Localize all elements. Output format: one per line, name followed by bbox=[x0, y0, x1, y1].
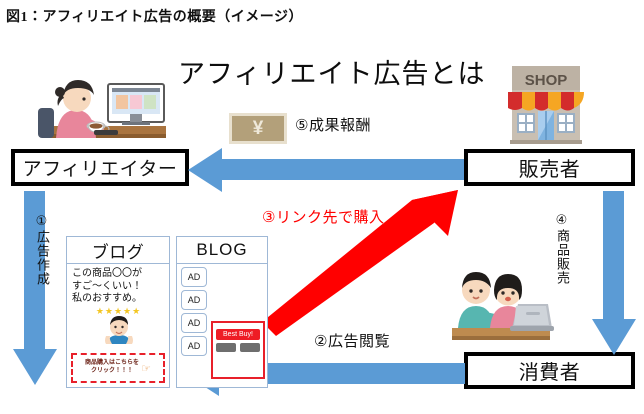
person-at-computer-icon bbox=[30, 68, 170, 146]
entity-label-consumer: 消費者 bbox=[519, 356, 581, 385]
blog-mockup[interactable]: ブログ この商品〇〇が すご〜くいい！ 私のおすすめ。 ★★★★★ 商品購入はこ bbox=[66, 236, 170, 388]
blog-mockup-text: この商品〇〇が すご〜くいい！ 私のおすすめ。 bbox=[72, 268, 165, 306]
arrow-reward bbox=[188, 148, 464, 192]
blog-ads-title: BLOG bbox=[196, 240, 247, 260]
content-lines bbox=[211, 290, 264, 291]
entity-box-affiliator[interactable]: アフィリエイター bbox=[11, 149, 189, 186]
highlighted-ad-block[interactable]: Best Buy! bbox=[211, 321, 265, 379]
banknote-icon: ¥ bbox=[229, 113, 287, 144]
arrow-head bbox=[13, 349, 57, 385]
blog-mockup-body: この商品〇〇が すご〜くいい！ 私のおすすめ。 ★★★★★ bbox=[67, 264, 169, 348]
best-buy-button[interactable]: Best Buy! bbox=[216, 329, 260, 340]
shop-building-icon: SHOP bbox=[500, 56, 592, 146]
ad-chip[interactable]: AD bbox=[181, 336, 207, 356]
step-label-ad-view: ②広告閲覧 bbox=[314, 334, 390, 350]
ad-rows: AD AD AD AD bbox=[177, 264, 267, 356]
ad-row[interactable]: AD bbox=[181, 267, 264, 287]
blog-ads-header: BLOG bbox=[177, 237, 267, 264]
shop-sign-text: SHOP bbox=[525, 72, 568, 89]
blog-mockup-header: ブログ bbox=[67, 237, 169, 264]
arrow-bar bbox=[221, 159, 464, 180]
entity-label-affiliator: アフィリエイター bbox=[23, 154, 178, 181]
blog-avatar: ★★★★★ bbox=[72, 306, 165, 348]
couple-with-laptop-icon bbox=[450, 258, 556, 348]
ad-chip[interactable]: AD bbox=[181, 313, 207, 333]
pointing-hand-icon: ☞ bbox=[141, 362, 151, 375]
blog-cta-banner[interactable]: 商品購入はこちらを クリック！！！ ☞ bbox=[71, 353, 165, 383]
diagram-title: アフィリエイト広告とは bbox=[178, 52, 485, 91]
entity-box-seller[interactable]: 販売者 bbox=[464, 149, 635, 186]
step-label-ad-creation: ①広告作成 bbox=[36, 214, 49, 286]
ad-row[interactable]: AD bbox=[181, 290, 264, 310]
arrow-bar bbox=[603, 191, 624, 321]
yen-symbol: ¥ bbox=[253, 119, 264, 138]
blog-ads-mockup[interactable]: BLOG AD AD AD AD bbox=[176, 236, 268, 388]
step-label-purchase: ③リンク先で購入 bbox=[262, 210, 384, 226]
ad-chip[interactable]: AD bbox=[181, 290, 207, 310]
figure-caption: 図1：アフィリエイト広告の概要（イメージ） bbox=[6, 6, 303, 26]
arrow-head bbox=[592, 319, 636, 355]
entity-label-seller: 販売者 bbox=[519, 153, 581, 182]
step-label-reward: ⑤成果報酬 bbox=[295, 118, 371, 134]
content-lines bbox=[211, 313, 264, 314]
blog-cta-text: 商品購入はこちらを クリック！！！ bbox=[85, 360, 139, 376]
ad-chip[interactable]: AD bbox=[181, 267, 207, 287]
entity-box-consumer[interactable]: 消費者 bbox=[464, 352, 635, 389]
arrow-head bbox=[188, 148, 222, 192]
content-lines bbox=[211, 267, 264, 268]
step-label-product-sales: ④商品販売 bbox=[556, 213, 569, 285]
arrow-product-sales bbox=[592, 191, 636, 355]
blog-mockup-title: ブログ bbox=[92, 238, 145, 263]
affiliate-ad-diagram: 図1：アフィリエイト広告の概要（イメージ） アフィリエイト広告とは bbox=[0, 0, 644, 414]
ad-thumbnails bbox=[216, 343, 260, 352]
